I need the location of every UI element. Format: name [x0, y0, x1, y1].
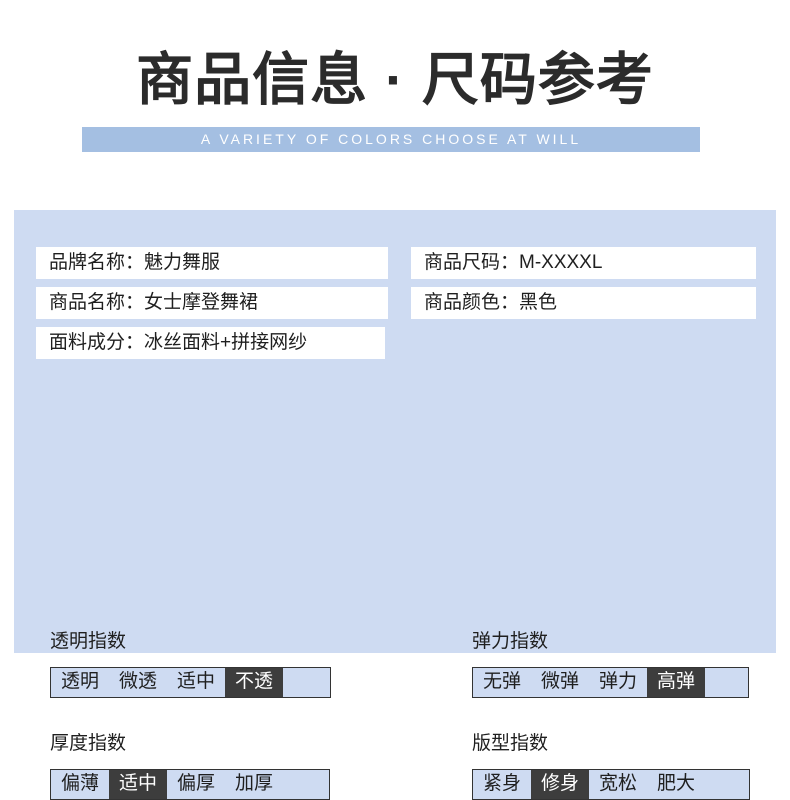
index-label-fit: 版型指数	[472, 732, 750, 756]
spec-row-brand: 品牌名称：魅力舞服	[36, 247, 388, 279]
index-group-transparency: 透明指数 透明 微透 适中 不透	[50, 630, 331, 698]
spec-row-color: 商品颜色：黑色	[411, 287, 756, 319]
index-option-elasticity-2[interactable]: 弹力	[589, 668, 647, 697]
header-section: 商品信息 · 尺码参考 A VARIETY OF COLORS CHOOSE A…	[0, 0, 790, 210]
index-scale-transparency: 透明 微透 适中 不透	[50, 667, 331, 698]
index-scale-fit: 紧身 修身 宽松 肥大	[472, 769, 750, 800]
index-option-thickness-3[interactable]: 加厚	[225, 770, 283, 799]
spec-row-fabric: 面料成分：冰丝面料+拼接网纱	[36, 327, 385, 359]
index-label-thickness: 厚度指数	[50, 732, 330, 756]
index-label-transparency: 透明指数	[50, 630, 331, 654]
index-group-thickness: 厚度指数 偏薄 适中 偏厚 加厚	[50, 732, 330, 800]
index-option-fit-0[interactable]: 紧身	[473, 770, 531, 799]
index-option-transparency-3[interactable]: 不透	[225, 668, 283, 697]
index-option-elasticity-0[interactable]: 无弹	[473, 668, 531, 697]
index-option-elasticity-1[interactable]: 微弹	[531, 668, 589, 697]
index-option-fit-2[interactable]: 宽松	[589, 770, 647, 799]
index-option-elasticity-3[interactable]: 高弹	[647, 668, 705, 697]
index-group-elasticity: 弹力指数 无弹 微弹 弹力 高弹	[472, 630, 749, 698]
index-group-fit: 版型指数 紧身 修身 宽松 肥大	[472, 732, 750, 800]
subtitle-banner: A VARIETY OF COLORS CHOOSE AT WILL	[82, 127, 700, 152]
index-option-thickness-0[interactable]: 偏薄	[51, 770, 109, 799]
index-option-thickness-1[interactable]: 适中	[109, 770, 167, 799]
index-scale-thickness: 偏薄 适中 偏厚 加厚	[50, 769, 330, 800]
index-option-fit-1[interactable]: 修身	[531, 770, 589, 799]
index-option-thickness-2[interactable]: 偏厚	[167, 770, 225, 799]
index-label-elasticity: 弹力指数	[472, 630, 749, 654]
product-info-panel: 品牌名称：魅力舞服 商品名称：女士摩登舞裙 面料成分：冰丝面料+拼接网纱 商品尺…	[14, 210, 776, 653]
index-option-transparency-2[interactable]: 适中	[167, 668, 225, 697]
index-scale-elasticity: 无弹 微弹 弹力 高弹	[472, 667, 749, 698]
index-option-transparency-1[interactable]: 微透	[109, 668, 167, 697]
subtitle-text: A VARIETY OF COLORS CHOOSE AT WILL	[82, 127, 700, 152]
spec-row-size: 商品尺码：M-XXXXL	[411, 247, 756, 279]
spec-row-product-name: 商品名称：女士摩登舞裙	[36, 287, 388, 319]
index-option-transparency-0[interactable]: 透明	[51, 668, 109, 697]
index-option-fit-3[interactable]: 肥大	[647, 770, 705, 799]
page-title: 商品信息 · 尺码参考	[0, 48, 790, 112]
